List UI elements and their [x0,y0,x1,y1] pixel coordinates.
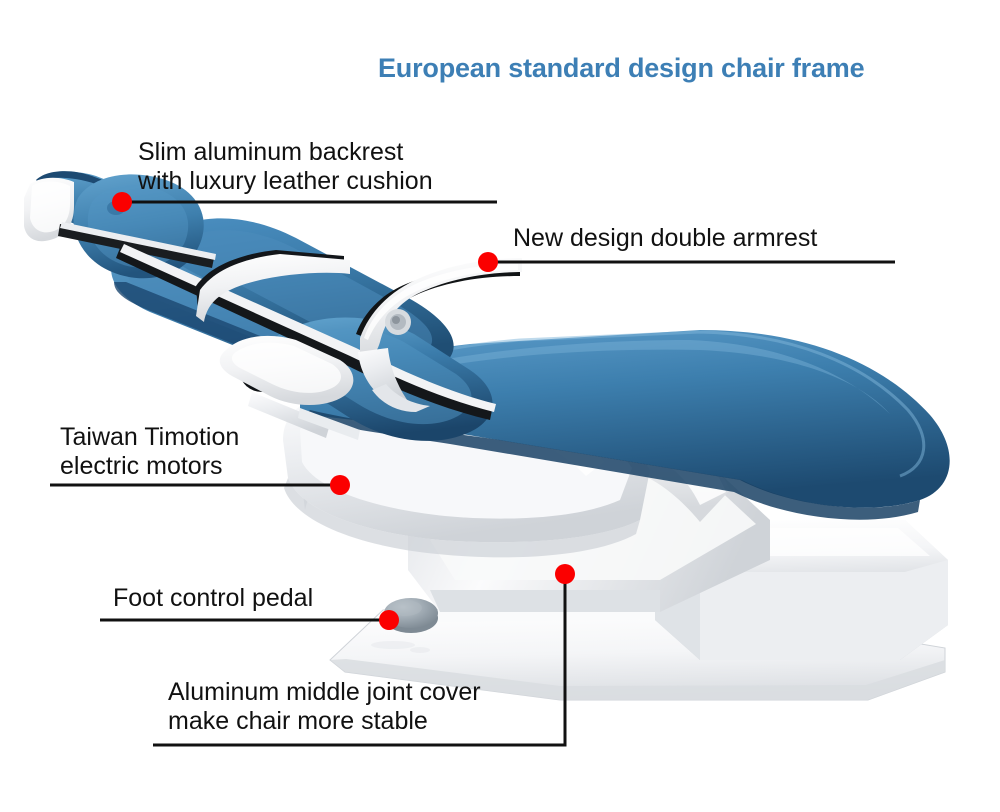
callout-label-motors: Taiwan Timotion electric motors [60,423,239,480]
dental-chair-illustration: ∪ [0,0,1000,812]
product-annotation-image: ∪ European standard design chair frame S… [0,0,1000,812]
callout-label-pedal: Foot control pedal [113,584,313,613]
callout-label-armrest: New design double armrest [513,224,817,253]
callout-label-joint-cover: Aluminum middle joint cover make chair m… [168,678,481,735]
armrest-hinge [385,309,411,335]
page-title: European standard design chair frame [378,53,864,84]
foot-control-pedal [384,598,438,633]
callout-label-backrest: Slim aluminum backrest with luxury leath… [138,138,433,195]
